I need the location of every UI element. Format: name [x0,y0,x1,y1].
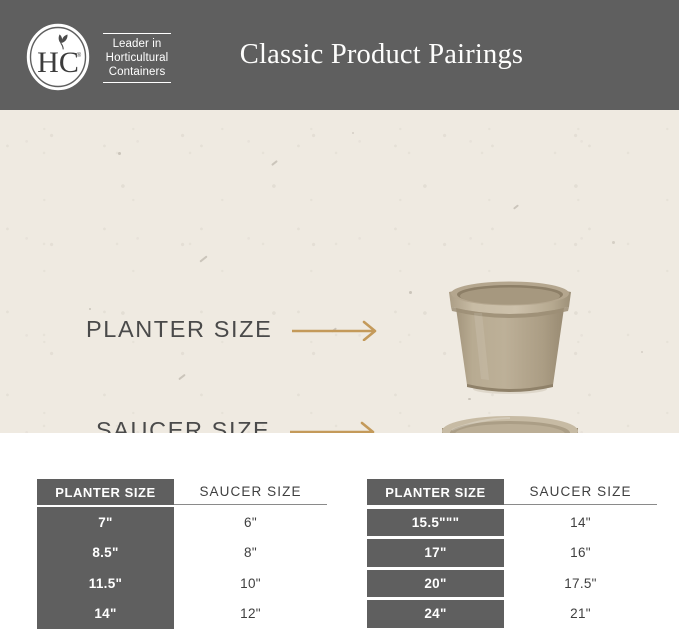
tagline-line-1: Leader in [106,37,169,51]
table-row: 20" 17.5" [367,568,657,599]
cell-planter-size: 20" [367,570,504,598]
svg-text:®: ® [77,52,82,59]
cell-saucer-size: 14" [504,507,657,538]
cell-planter-size: 17" [367,539,504,567]
table-row: 8.5" 8" [37,538,327,569]
texture-speck [409,291,412,294]
table-row: 14" 12" [37,599,327,630]
column-header-saucer-size: SAUCER SIZE [504,479,657,505]
cell-saucer-size: 6" [174,507,327,538]
cell-planter-size: 7" [37,507,174,538]
table-row: 7" 6" [37,507,327,538]
cell-saucer-size: 12" [174,599,327,630]
table-row: 15.5""" 14" [367,507,657,538]
texture-speck [89,308,91,310]
callout-saucer-label: SAUCER SIZE [96,417,270,433]
brand-logo[interactable]: HC ® Leader in Horticultural Containers [24,21,171,93]
column-header-planter-size: PLANTER SIZE [367,479,504,505]
table-body: 7" 6" 8.5" 8" 11.5" 10" 14" 12" [37,507,327,629]
saucer-dish-image [438,412,583,433]
hero-panel: PLANTER SIZE SAUCER SIZE [0,110,679,433]
tagline-rule-bottom [103,82,171,83]
cell-planter-size: 8.5" [37,538,174,569]
callout-planter-label: PLANTER SIZE [86,316,272,343]
table-row: 17" 16" [367,538,657,569]
arrow-right-icon [290,420,382,434]
texture-speck [641,351,643,353]
tagline-line-2: Horticultural [106,51,169,65]
table-header-row: PLANTER SIZE SAUCER SIZE [367,479,657,505]
texture-speck [612,241,615,244]
cell-planter-size: 14" [37,599,174,630]
cell-planter-size: 11.5" [37,568,174,599]
table-row: 11.5" 10" [37,568,327,599]
table-header-row: PLANTER SIZE SAUCER SIZE [37,479,327,505]
texture-speck [468,398,471,400]
pairing-table-left: PLANTER SIZE SAUCER SIZE 7" 6" 8.5" 8" 1… [37,479,327,629]
cell-saucer-size: 17.5" [504,568,657,599]
arrow-right-icon [292,319,384,341]
page-header: HC ® Leader in Horticultural Containers … [0,0,679,110]
column-header-planter-size: PLANTER SIZE [37,479,174,505]
column-header-saucer-size: SAUCER SIZE [174,479,327,505]
pairing-table-right: PLANTER SIZE SAUCER SIZE 15.5""" 14" 17"… [367,479,657,629]
callout-saucer-size: SAUCER SIZE [96,417,382,433]
size-pairing-tables: PLANTER SIZE SAUCER SIZE 7" 6" 8.5" 8" 1… [0,433,679,636]
cell-saucer-size: 10" [174,568,327,599]
cell-saucer-size: 21" [504,599,657,630]
cell-saucer-size: 8" [174,538,327,569]
table-body: 15.5""" 14" 17" 16" 20" 17.5" 24" 21" [367,507,657,629]
brand-tagline: Leader in Horticultural Containers [103,32,171,83]
planter-pot-image [440,277,580,398]
texture-speck [118,152,121,155]
callout-planter-size: PLANTER SIZE [86,316,384,343]
cell-planter-size: 24" [367,600,504,628]
cell-saucer-size: 16" [504,538,657,569]
cell-planter-size: 15.5""" [367,509,504,537]
hc-leaf-circle-logo: HC ® [24,21,92,93]
tagline-line-3: Containers [106,65,169,79]
table-row: 24" 21" [367,599,657,630]
texture-speck [352,132,354,134]
svg-text:HC: HC [37,46,79,79]
